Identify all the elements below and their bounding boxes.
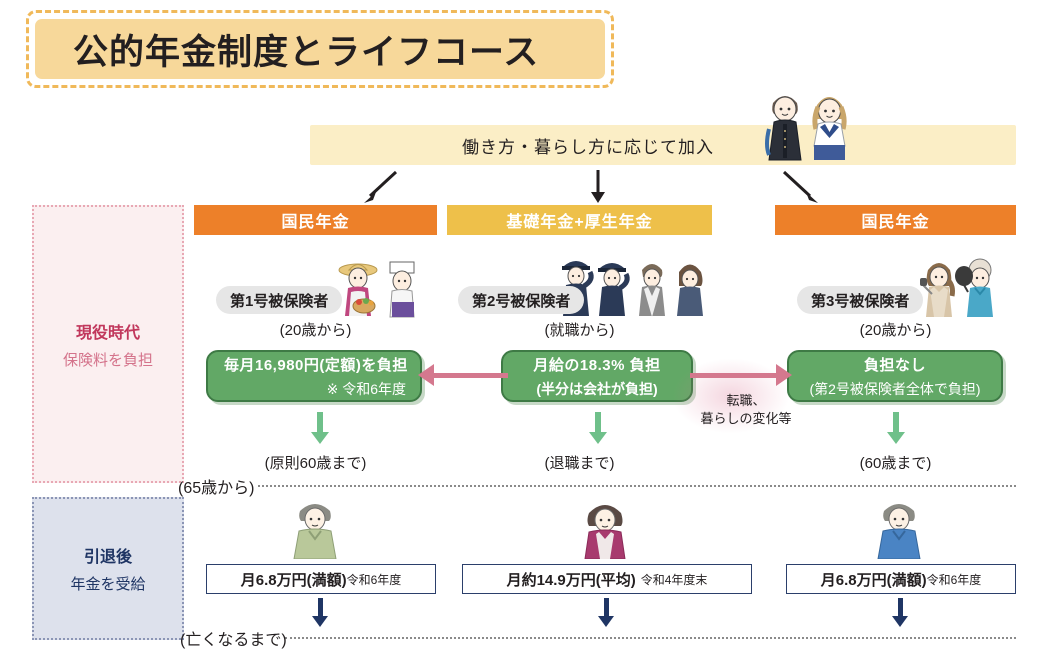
premium-box-1-line2: ※ 令和6年度	[327, 379, 420, 399]
benefit-arrow-down-3-icon	[892, 598, 910, 630]
transfer-label-line2: 暮らしの変化等	[690, 410, 802, 428]
flow-arrow-down-3-icon	[886, 412, 906, 446]
transfer-arrow-right-bar	[690, 373, 778, 378]
premium-box-3: 負担なし (第2号被保険者全体で負担)	[787, 350, 1003, 402]
benefit-box-3: 月6.8万円(満額) 令和6年度	[786, 564, 1016, 594]
premium-box-2: 月給の18.3% 負担 (半分は会社が負担)	[501, 350, 693, 402]
divider-age-65-label: (65歳から)	[178, 474, 254, 498]
insured-type-2: 第2号被保険者	[458, 286, 584, 314]
benefit-note-2: 令和4年度末	[641, 571, 708, 588]
divider-death-label: (亡くなるまで)	[180, 626, 287, 650]
students-couple-icon	[755, 83, 870, 163]
premium-box-1-line1: 毎月16,980円(定額)を負担	[224, 354, 408, 375]
start-age-2: (就職から)	[447, 319, 712, 340]
join-condition-banner: 働き方・暮らし方に応じて加入	[310, 125, 1016, 165]
elderly-woman-magenta-icon	[578, 497, 632, 559]
column-header-3: 国民年金	[775, 205, 1016, 235]
premium-box-2-line1: 月給の18.3% 負担	[533, 354, 660, 375]
benefit-amount-3: 月6.8万円(満額)	[821, 569, 927, 590]
benefit-note-1: 令和6年度	[347, 571, 402, 588]
farmer-couple-icon	[330, 256, 426, 318]
benefit-note-3: 令和6年度	[927, 571, 982, 588]
page-title: 公的年金制度とライフコース	[35, 24, 539, 75]
benefit-box-1: 月6.8万円(満額) 令和6年度	[206, 564, 436, 594]
elderly-man-green-icon	[288, 497, 342, 559]
branch-arrow-center-icon	[586, 170, 610, 204]
flow-arrow-down-1-icon	[310, 412, 330, 446]
insured-type-1: 第1号被保険者	[216, 286, 342, 314]
benefit-amount-2: 月約14.9万円(平均)	[507, 569, 636, 590]
page-title-box: 公的年金制度とライフコース	[35, 19, 605, 79]
start-age-3: (20歳から)	[775, 319, 1016, 340]
column-header-2: 基礎年金+厚生年金	[447, 205, 712, 235]
benefit-arrow-down-1-icon	[312, 598, 330, 630]
end-age-2: (退職まで)	[447, 452, 712, 473]
panel-retired-period: 引退後 年金を受給	[32, 497, 184, 640]
premium-box-1: 毎月16,980円(定額)を負担 ※ 令和6年度	[206, 350, 422, 402]
transfer-label-line1: 転職、	[690, 392, 802, 410]
benefit-arrow-down-2-icon	[598, 598, 616, 630]
panel-retired-sub: 年金を受給	[70, 573, 145, 594]
benefit-box-2: 月約14.9万円(平均) 令和4年度末	[462, 564, 752, 594]
workers-group-icon	[560, 252, 712, 318]
transfer-label: 転職、 暮らしの変化等	[690, 392, 802, 427]
transfer-arrow-left-bar	[432, 373, 508, 378]
branch-arrow-right-icon	[780, 170, 822, 204]
transfer-arrow-left-head-icon	[418, 364, 434, 386]
divider-death	[285, 637, 1016, 639]
benefit-amount-1: 月6.8万円(満額)	[241, 569, 347, 590]
panel-retired-heading: 引退後	[84, 543, 132, 567]
end-age-1: (原則60歳まで)	[194, 452, 437, 473]
end-age-3: (60歳まで)	[775, 452, 1016, 473]
join-condition-text: 働き方・暮らし方に応じて加入	[462, 133, 714, 158]
panel-active-period: 現役時代 保険料を負担	[32, 205, 184, 483]
premium-box-2-line2: (半分は会社が負担)	[536, 379, 657, 399]
premium-box-3-line2: (第2号被保険者全体で負担)	[809, 379, 980, 399]
cooking-couple-icon	[920, 254, 1016, 318]
transfer-arrow-right-head-icon	[776, 364, 792, 386]
divider-age-65	[258, 485, 1016, 487]
elderly-man-blue-icon	[872, 497, 926, 559]
panel-active-sub: 保険料を負担	[63, 349, 153, 370]
page-title-frame: 公的年金制度とライフコース	[26, 10, 614, 88]
premium-box-3-line1: 負担なし	[864, 354, 926, 375]
branch-arrow-left-icon	[360, 170, 400, 204]
flow-arrow-down-2-icon	[588, 412, 608, 446]
panel-active-heading: 現役時代	[76, 319, 140, 343]
column-header-1: 国民年金	[194, 205, 437, 235]
start-age-1: (20歳から)	[194, 319, 437, 340]
insured-type-3: 第3号被保険者	[797, 286, 923, 314]
